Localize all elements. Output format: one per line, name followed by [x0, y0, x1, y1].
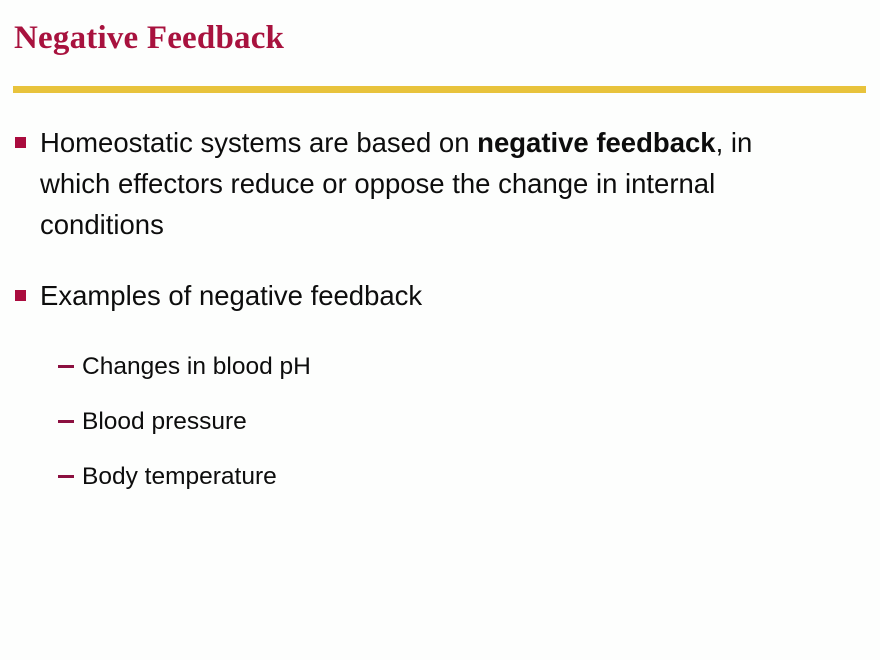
sub-bullet-label: Changes in blood pH	[82, 353, 311, 380]
title-divider	[13, 86, 866, 93]
sub-bullet-item-body-temperature: Body temperature	[0, 459, 880, 495]
spacer	[0, 259, 880, 275]
dash-bullet-icon	[58, 475, 74, 478]
page-title: Negative Feedback	[14, 18, 284, 58]
bullet-item-homeostatic-systems: Homeostatic systems are based on negativ…	[0, 122, 780, 245]
presentation-slide: Negative Feedback Homeostatic systems ar…	[0, 0, 880, 660]
sub-bullet-item-blood-ph: Changes in blood pH	[0, 349, 880, 385]
spacer	[0, 330, 880, 349]
bullet-text-part-1: Homeostatic systems are based on	[40, 127, 477, 158]
square-bullet-icon	[15, 137, 26, 148]
spacer	[0, 385, 880, 404]
slide-body: Homeostatic systems are based on negativ…	[0, 122, 880, 495]
sub-bullet-item-blood-pressure: Blood pressure	[0, 404, 880, 440]
bullet-text-emphasis: negative feedback	[477, 127, 715, 158]
spacer	[0, 440, 880, 459]
dash-bullet-icon	[58, 420, 74, 423]
bullet-item-examples: Examples of negative feedback	[0, 275, 780, 316]
sub-bullet-label: Body temperature	[82, 463, 277, 490]
dash-bullet-icon	[58, 365, 74, 368]
sub-bullet-list: Changes in blood pH Blood pressure Body …	[0, 349, 880, 495]
sub-bullet-label: Blood pressure	[82, 408, 247, 435]
bullet-label: Examples of negative feedback	[40, 280, 422, 311]
square-bullet-icon	[15, 290, 26, 301]
